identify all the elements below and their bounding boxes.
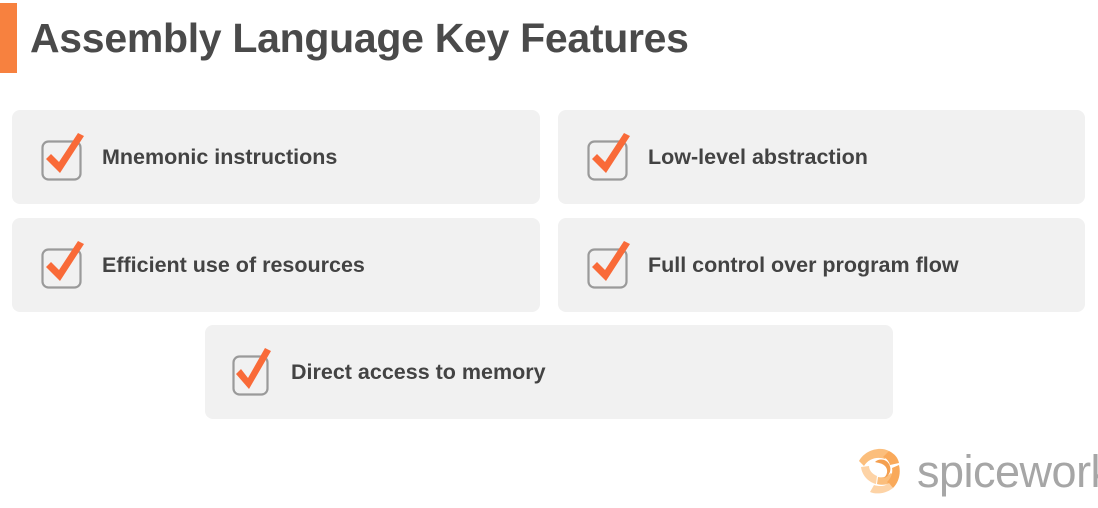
checkbox-checked-icon xyxy=(584,132,634,182)
spiceworks-logo: spiceworks xyxy=(855,440,1093,502)
feature-card: Direct access to memory xyxy=(205,325,893,419)
feature-card: Full control over program flow xyxy=(558,218,1085,312)
spiceworks-pinwheel-icon xyxy=(855,443,913,499)
page-title: Assembly Language Key Features xyxy=(30,3,689,73)
title-accent-bar xyxy=(0,3,17,73)
checkbox-checked-icon xyxy=(38,240,88,290)
feature-label: Mnemonic instructions xyxy=(102,145,337,170)
slide-canvas: Assembly Language Key Features Mnemonic … xyxy=(0,0,1098,508)
checkbox-checked-icon xyxy=(584,240,634,290)
feature-card: Mnemonic instructions xyxy=(12,110,540,204)
feature-label: Low-level abstraction xyxy=(648,145,868,170)
feature-label: Full control over program flow xyxy=(648,253,959,278)
page-header: Assembly Language Key Features xyxy=(0,3,689,73)
feature-card: Efficient use of resources xyxy=(12,218,540,312)
checkbox-checked-icon xyxy=(38,132,88,182)
checkbox-checked-icon xyxy=(227,347,277,397)
feature-label: Direct access to memory xyxy=(291,360,546,385)
feature-label: Efficient use of resources xyxy=(102,253,365,278)
feature-card: Low-level abstraction xyxy=(558,110,1085,204)
spiceworks-wordmark: spiceworks xyxy=(917,449,1098,494)
